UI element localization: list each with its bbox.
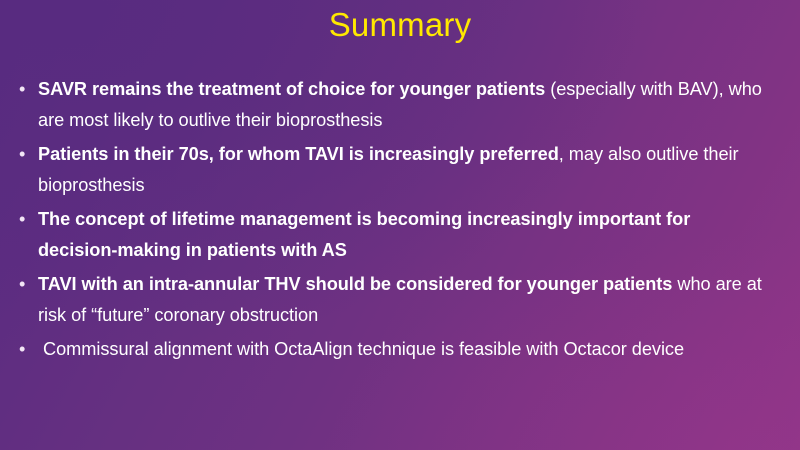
presentation-slide: Summary •SAVR remains the treatment of c… xyxy=(0,0,800,450)
bullet-text: The concept of lifetime management is be… xyxy=(38,209,695,260)
bullet-marker-icon: • xyxy=(19,74,33,105)
bullet-item: •Patients in their 70s, for whom TAVI is… xyxy=(14,139,770,201)
bullet-text: Commissural alignment with OctaAlign tec… xyxy=(38,339,684,359)
bullet-text: Patients in their 70s, for whom TAVI is … xyxy=(38,144,744,195)
bullet-marker-icon: • xyxy=(19,204,33,235)
bullet-text-plain: Commissural alignment with OctaAlign tec… xyxy=(38,339,684,359)
bullet-item: •SAVR remains the treatment of choice fo… xyxy=(14,74,770,136)
summary-bullet-list: •SAVR remains the treatment of choice fo… xyxy=(14,74,770,368)
bullet-text-emphasis: SAVR remains the treatment of choice for… xyxy=(38,79,545,99)
bullet-text: SAVR remains the treatment of choice for… xyxy=(38,79,767,130)
bullet-item: •TAVI with an intra-annular THV should b… xyxy=(14,269,770,331)
bullet-marker-icon: • xyxy=(19,139,33,170)
bullet-text-emphasis: Patients in their 70s, for whom TAVI is … xyxy=(38,144,559,164)
bullet-item: •The concept of lifetime management is b… xyxy=(14,204,770,266)
bullet-marker-icon: • xyxy=(19,334,33,365)
bullet-text-emphasis: The concept of lifetime management is be… xyxy=(38,209,695,260)
bullet-item: • Commissural alignment with OctaAlign t… xyxy=(14,334,770,365)
bullet-marker-icon: • xyxy=(19,269,33,300)
bullet-text-emphasis: TAVI with an intra-annular THV should be… xyxy=(38,274,672,294)
bullet-text: TAVI with an intra-annular THV should be… xyxy=(38,274,767,325)
slide-title: Summary xyxy=(0,4,800,46)
